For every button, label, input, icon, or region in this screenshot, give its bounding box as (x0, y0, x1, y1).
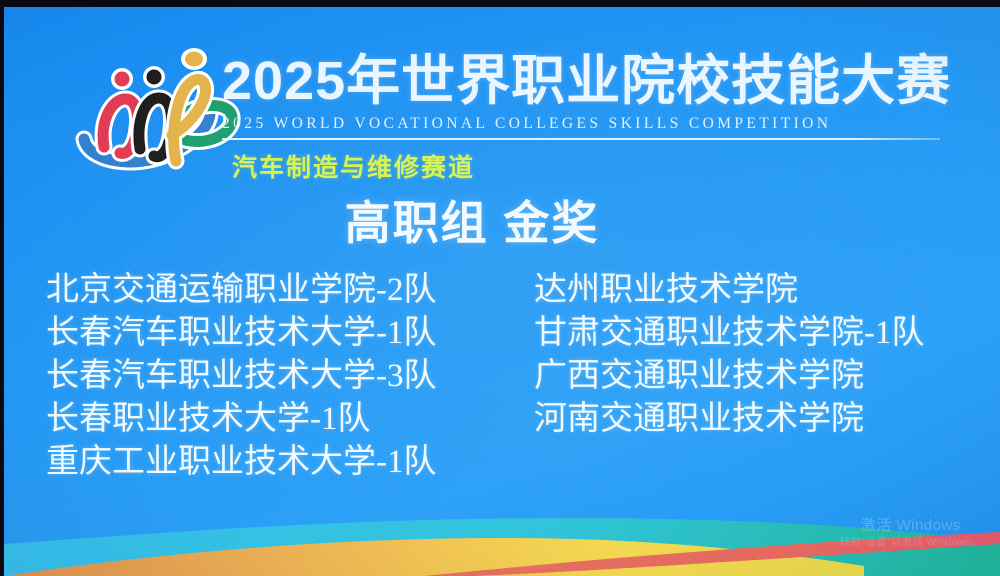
projector-photo: 2025年世界职业院校技能大赛 2025 WORLD VOCATIONAL CO… (0, 0, 1000, 576)
list-item: 长春汽车职业技术大学-1队 (46, 312, 516, 355)
list-item: 北京交通运输职业学院-2队 (46, 269, 516, 312)
slide-header: 2025年世界职业院校技能大赛 2025 WORLD VOCATIONAL CO… (4, 7, 1000, 197)
competition-english-title: 2025 WORLD VOCATIONAL COLLEGES SKILLS CO… (222, 114, 946, 134)
list-item: 河南交通职业技术学院 (534, 398, 984, 441)
list-item: 达州职业技术学院 (534, 269, 984, 312)
winners-right-column: 达州职业技术学院 甘肃交通职业技术学院-1队 广西交通职业技术学院 河南交通职业… (534, 269, 984, 441)
list-item: 重庆工业职业技术大学-1队 (46, 441, 516, 484)
list-item: 甘肃交通职业技术学院-1队 (534, 312, 984, 355)
competition-main-title: 2025年世界职业院校技能大赛 (222, 51, 946, 111)
title-block: 2025年世界职业院校技能大赛 2025 WORLD VOCATIONAL CO… (222, 51, 946, 140)
list-item: 长春汽车职业技术大学-3队 (46, 355, 516, 398)
winners-list: 北京交通运输职业学院-2队 长春汽车职业技术大学-1队 长春汽车职业技术大学-3… (4, 269, 1000, 499)
winners-left-column: 北京交通运输职业学院-2队 长春汽车职业技术大学-1队 长春汽车职业技术大学-3… (46, 269, 516, 484)
watermark-title: 激活 Windows (840, 516, 982, 535)
presentation-slide: 2025年世界职业院校技能大赛 2025 WORLD VOCATIONAL CO… (4, 7, 1000, 576)
list-item: 长春职业技术大学-1队 (46, 398, 516, 441)
track-name-label: 汽车制造与维修赛道 (232, 152, 475, 184)
title-divider-rule (222, 138, 940, 140)
watermark-subtitle: 转到"设置"以激活 Windows。 (840, 535, 982, 550)
windows-activation-watermark: 激活 Windows 转到"设置"以激活 Windows。 (840, 516, 982, 550)
award-category-heading: 高职组 金奖 (4, 193, 940, 253)
list-item: 广西交通职业技术学院 (534, 355, 984, 398)
